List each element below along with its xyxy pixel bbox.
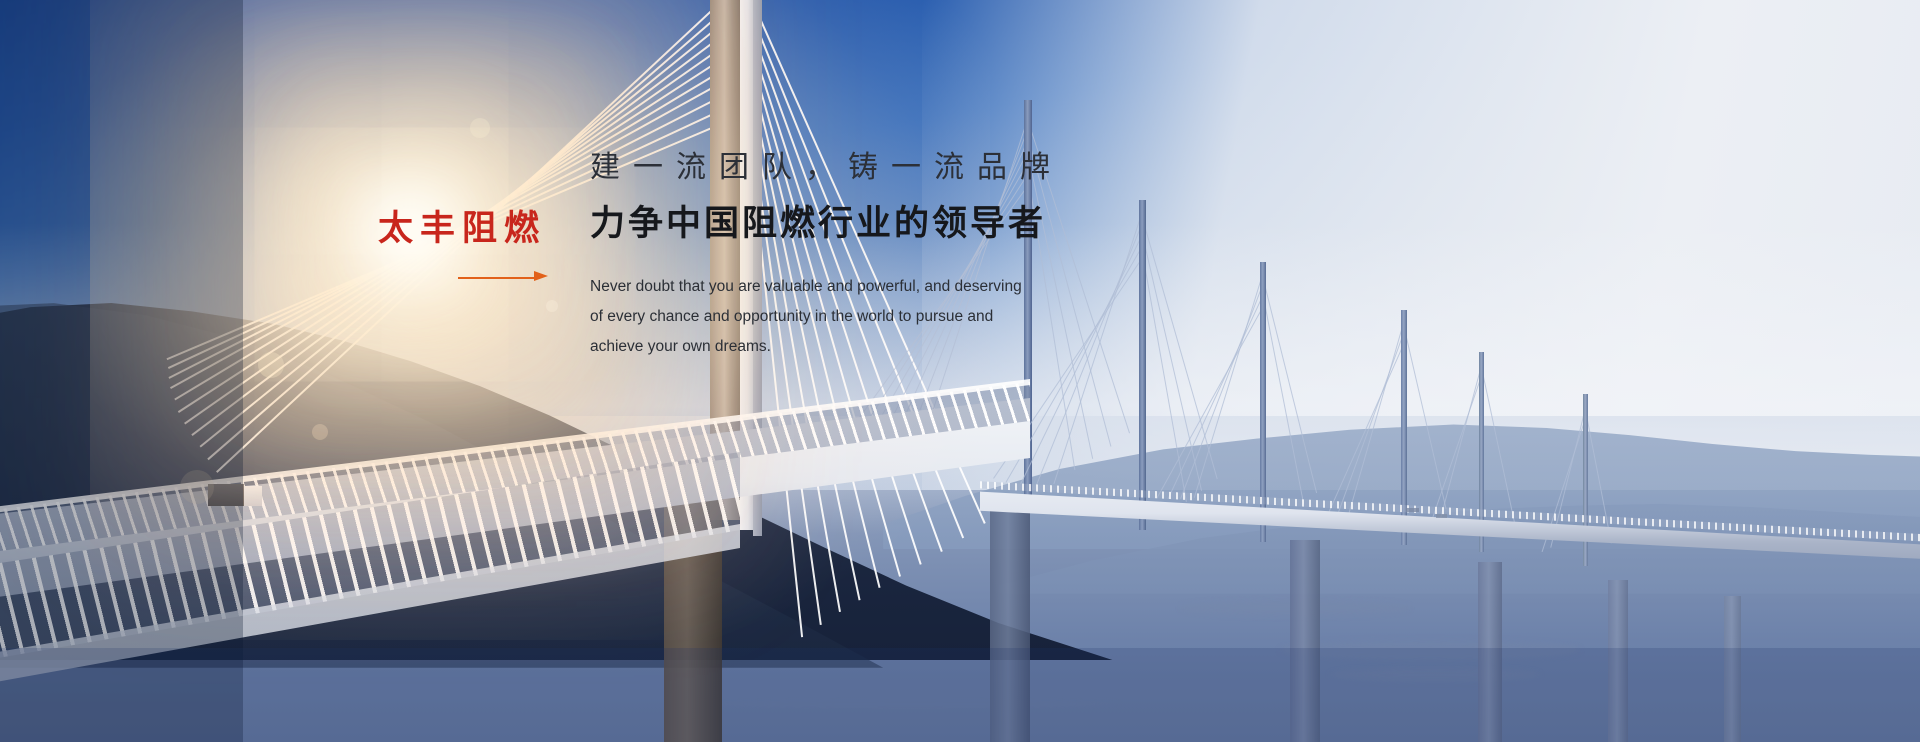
headline-secondary: 力争中国阻燃行业的领导者 [590,201,1230,248]
arrow-right-icon-head [534,271,548,281]
hero-paragraph-line-2: of every chance and opportunity in the w… [590,302,1050,332]
arrow-right-icon-bar [458,277,534,279]
hero-copy-block: 建一流团队，铸一流品牌 力争中国阻燃行业的领导者 Never doubt tha… [590,148,1230,362]
arrow-right-icon [378,267,548,289]
hero-banner: 太丰阻燃 建一流团队，铸一流品牌 力争中国阻燃行业的领导者 Never doub… [0,0,1920,742]
left-dark-overlay [0,0,243,742]
hero-paragraph-line-1: Never doubt that you are valuable and po… [590,272,1050,302]
brand-logo[interactable]: 太丰阻燃 [378,212,548,289]
headline-primary: 建一流团队，铸一流品牌 [590,148,1230,187]
brand-logo-text: 太丰阻燃 [378,212,548,247]
valley-cloud-1 [1180,600,1410,616]
hero-paragraph-line-3: achieve your own dreams. [590,332,1050,362]
bottom-tint-band [0,648,1920,742]
hero-paragraph: Never doubt that you are valuable and po… [590,272,1050,361]
